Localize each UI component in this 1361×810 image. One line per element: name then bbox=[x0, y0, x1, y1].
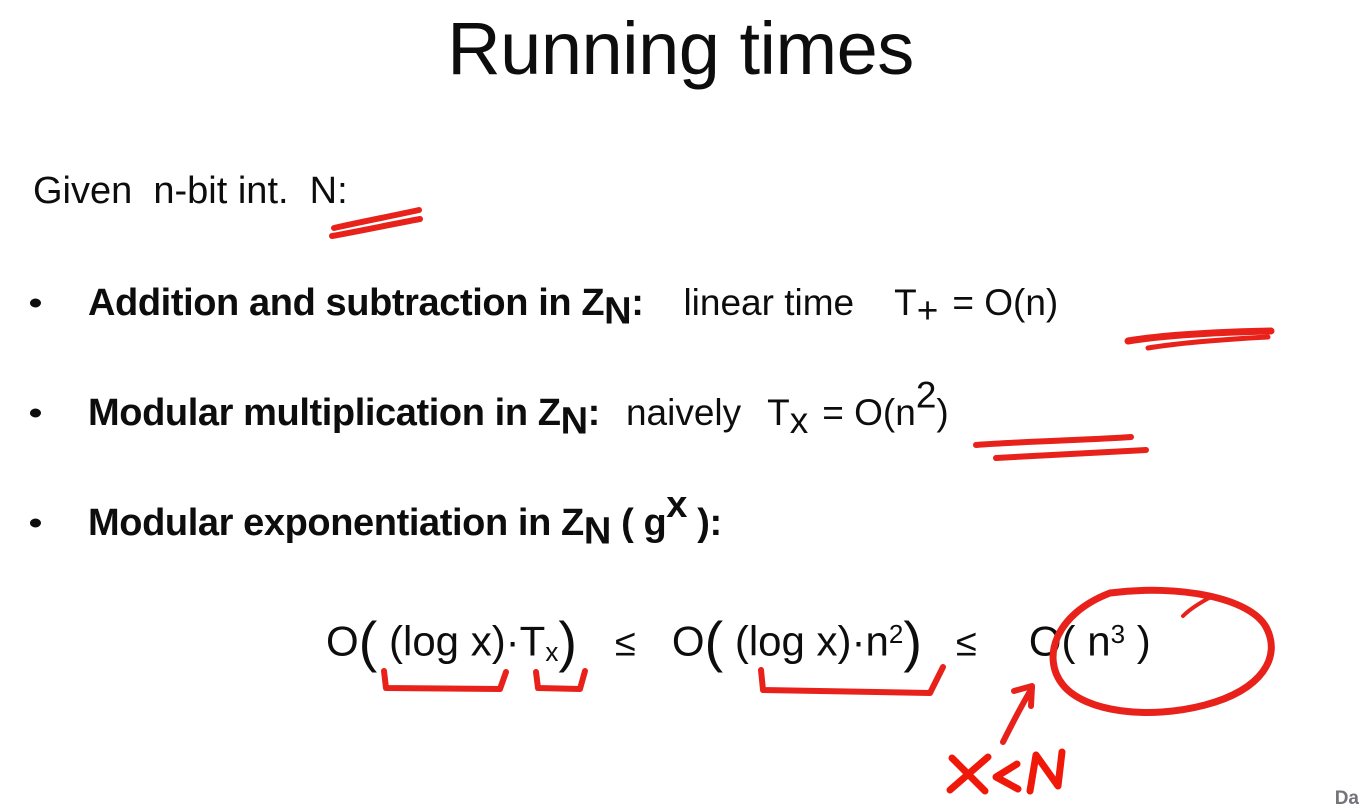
formula-term1-paren-open: ( bbox=[359, 610, 378, 673]
bullet-symbol: T bbox=[894, 282, 917, 323]
bullet-label-colon: : bbox=[588, 392, 600, 434]
bullet-complexity-close: ) bbox=[936, 392, 948, 433]
bullet-equals: = bbox=[822, 392, 854, 433]
given-variable: N bbox=[310, 170, 337, 212]
bullet-equals: = bbox=[952, 282, 984, 323]
bullet-symbol-subscript: x bbox=[790, 400, 809, 441]
bullet-dot-icon bbox=[30, 409, 41, 418]
slide-canvas: Running times Given n-bit int. N: Additi… bbox=[0, 0, 1361, 810]
formula-term2-body: (log x)·n bbox=[723, 617, 889, 664]
formula-term1-prefix: O bbox=[326, 617, 359, 664]
bullet-label: Modular exponentiation in Z bbox=[88, 502, 584, 544]
bullet-label-subscript: N bbox=[584, 510, 611, 552]
note-less-than-stroke bbox=[996, 764, 1018, 789]
given-colon: : bbox=[337, 170, 348, 212]
formula-relation-2: ≤ bbox=[956, 622, 977, 664]
bullet-label: Modular multiplication in Z bbox=[88, 392, 561, 434]
bullet-complexity: O(n) bbox=[984, 282, 1058, 323]
formula-term2-exponent: 2 bbox=[889, 619, 903, 649]
bullet-content: Modular exponentiation in ZN ( gx ): bbox=[88, 504, 722, 542]
corner-partial-text: Da bbox=[1335, 788, 1359, 810]
bullet-label: Addition and subtraction in Z bbox=[88, 282, 604, 324]
note-x-stroke-2 bbox=[950, 757, 988, 790]
bullet-addition-subtraction: Addition and subtraction in ZN:linear ti… bbox=[30, 284, 1058, 322]
formula-term3-close: ) bbox=[1125, 617, 1151, 664]
bullet-qualifier: linear time bbox=[683, 282, 854, 323]
underline-big-o-n-second-stroke bbox=[1148, 337, 1268, 348]
formula-term1-subscript: x bbox=[545, 637, 558, 667]
note-n-stroke bbox=[1030, 752, 1062, 791]
formula-term2-paren-open: ( bbox=[705, 610, 724, 673]
bullet-symbol-subscript: + bbox=[917, 290, 939, 331]
bullet-qualifier: naively bbox=[626, 392, 741, 433]
formula-term1-paren-close: ) bbox=[558, 610, 577, 673]
bullet-label-subscript: N bbox=[604, 290, 631, 332]
underline-given-n-lower bbox=[332, 219, 420, 236]
formula-term3-exponent: 3 bbox=[1111, 619, 1125, 649]
formula-term1-body: (log x)·T bbox=[377, 617, 545, 664]
bullet-label-colon: : bbox=[631, 282, 643, 324]
bullet-label-paren-open: ( g bbox=[611, 502, 666, 544]
bullet-label-paren-close: ): bbox=[687, 502, 722, 544]
underline-big-o-n2-lower bbox=[996, 450, 1146, 458]
bullet-content: Addition and subtraction in ZN:linear ti… bbox=[88, 284, 1058, 322]
given-line: Given n-bit int. N: bbox=[33, 170, 348, 213]
bullet-label-exponent: x bbox=[666, 484, 687, 526]
formula-term2-prefix: O bbox=[672, 617, 705, 664]
formula-relation-1: ≤ bbox=[615, 622, 636, 664]
bullet-complexity: O(n bbox=[854, 392, 916, 433]
bullet-symbol: T bbox=[767, 392, 790, 433]
underbrace-term1-logx bbox=[384, 671, 506, 689]
arrow-to-term3-head bbox=[1014, 686, 1032, 706]
formula-chain: O( (log x)·Tx)≤O( (log x)·n2)≤O( n3 ) bbox=[326, 614, 1151, 670]
bullet-content: Modular multiplication in ZN:naivelyTx= … bbox=[88, 394, 949, 432]
bullet-label-subscript: N bbox=[561, 400, 588, 442]
bullet-dot-icon bbox=[30, 519, 41, 528]
note-x-stroke-1 bbox=[952, 758, 985, 791]
underline-big-o-n2-upper bbox=[976, 437, 1131, 445]
bullet-complexity-exponent: 2 bbox=[916, 374, 937, 415]
bullet-modular-multiplication: Modular multiplication in ZN:naivelyTx= … bbox=[30, 394, 949, 432]
bullet-dot-icon bbox=[30, 299, 41, 308]
underbrace-term1-tx bbox=[536, 671, 585, 689]
bullet-modular-exponentiation: Modular exponentiation in ZN ( gx ): bbox=[30, 504, 722, 542]
given-prefix: Given n-bit int. bbox=[33, 170, 310, 212]
arrow-to-term3-shaft bbox=[1003, 688, 1032, 742]
page-title: Running times bbox=[0, 8, 1361, 89]
formula-term3: O( n bbox=[1029, 617, 1111, 664]
formula-term2-paren-close: ) bbox=[903, 610, 922, 673]
handwritten-note-x-less-than-n bbox=[950, 752, 1062, 791]
circle-term3-tail bbox=[1183, 598, 1209, 616]
underline-big-o-n bbox=[1128, 331, 1271, 341]
